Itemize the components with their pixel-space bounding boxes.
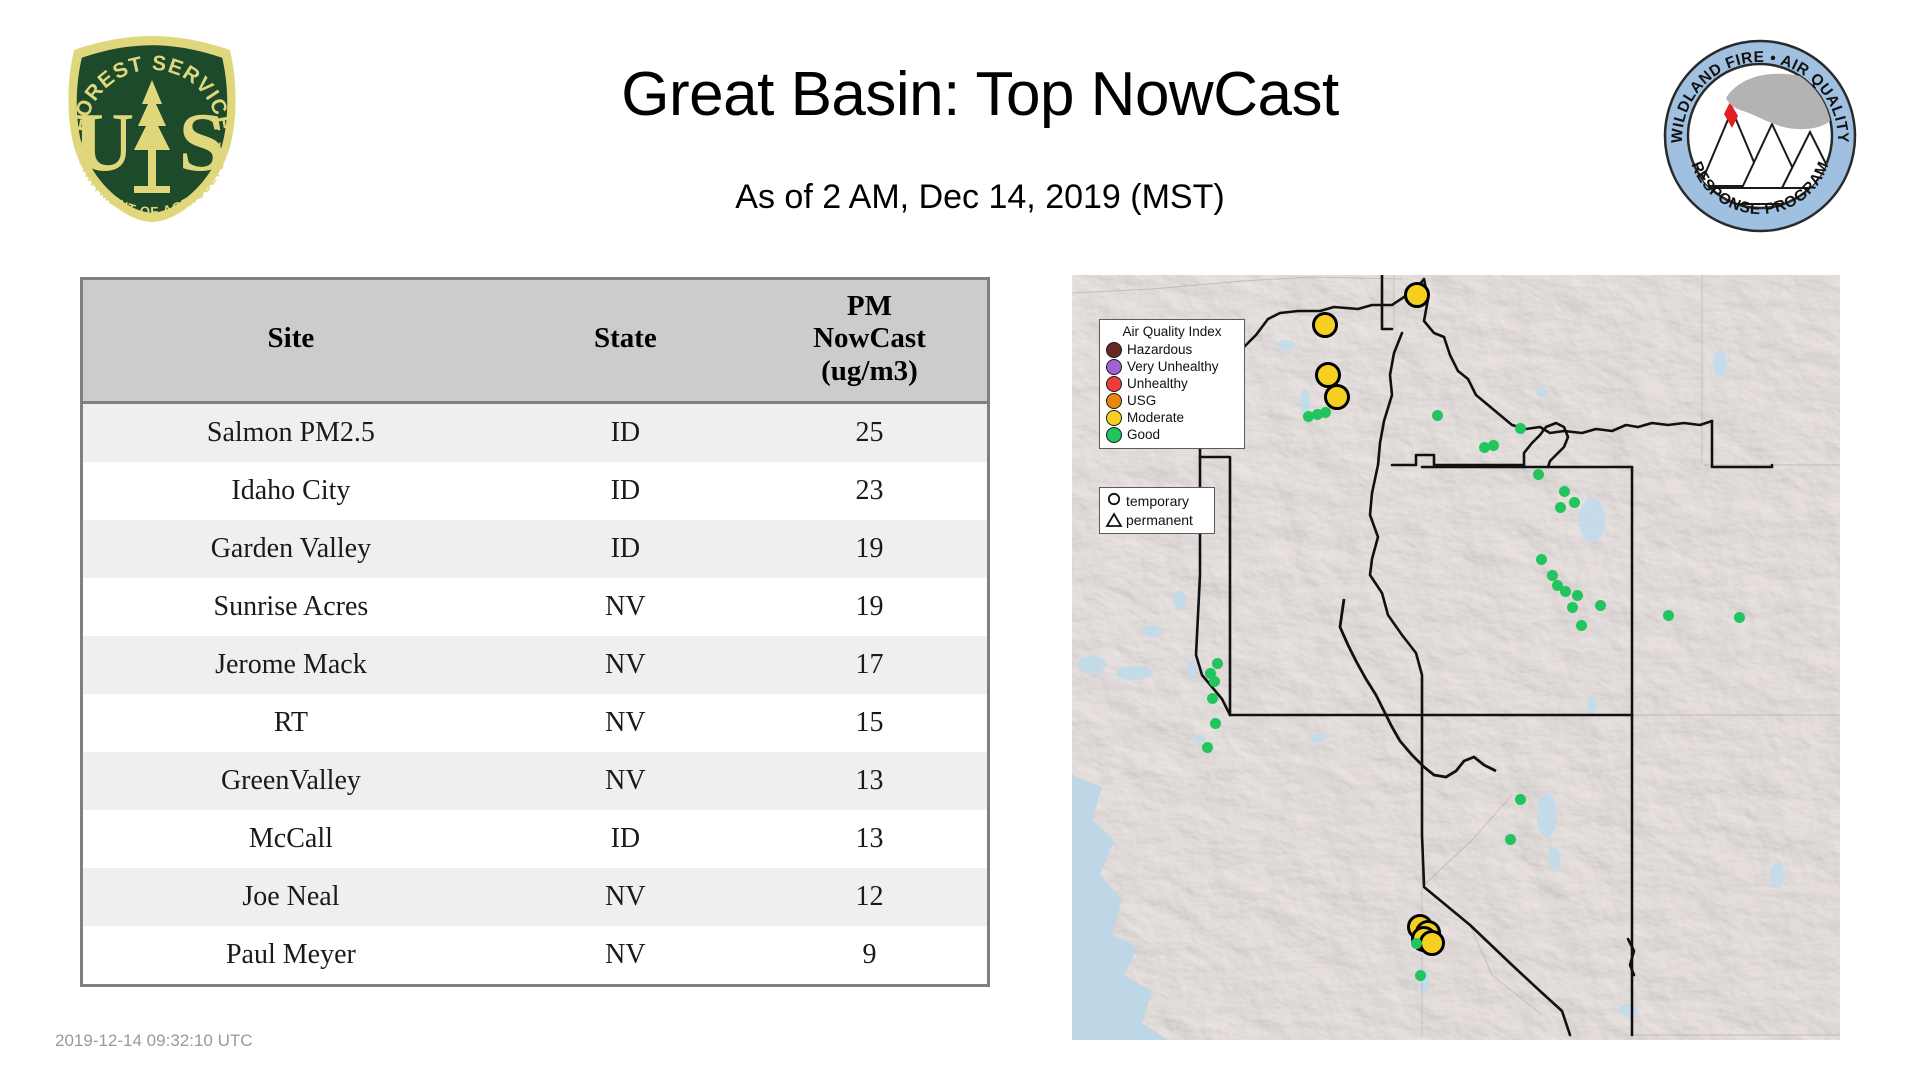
table-row: Paul MeyerNV9 bbox=[83, 926, 987, 984]
aqi-legend: Air Quality Index HazardousVery Unhealth… bbox=[1099, 319, 1245, 449]
forest-service-logo: FOREST SERVICE DEPARTMENT OF AGRICULTURE… bbox=[52, 28, 252, 228]
monitor-type-legend: temporary permanent bbox=[1099, 487, 1215, 534]
aqi-swatch-icon bbox=[1106, 359, 1122, 375]
cell-state: NV bbox=[499, 752, 752, 810]
table-row: Idaho CityID23 bbox=[83, 462, 987, 520]
wildland-fire-air-quality-logo: WILDLAND FIRE • AIR QUALITY RESPONSE PRO… bbox=[1660, 36, 1860, 236]
table-body: Salmon PM2.5ID25Idaho CityID23Garden Val… bbox=[83, 403, 987, 985]
table-row: Sunrise AcresNV19 bbox=[83, 578, 987, 636]
table-row: Salmon PM2.5ID25 bbox=[83, 403, 987, 463]
aqi-legend-row: Hazardous bbox=[1106, 341, 1238, 358]
aqi-legend-label: Moderate bbox=[1127, 410, 1184, 425]
aqi-legend-row: Moderate bbox=[1106, 409, 1238, 426]
page-title: Great Basin: Top NowCast bbox=[420, 62, 1540, 127]
column-header-pm-nowcast: PM NowCast (ug/m3) bbox=[752, 280, 987, 403]
monitor-marker-good[interactable] bbox=[1536, 554, 1547, 565]
cell-site: Paul Meyer bbox=[83, 926, 499, 984]
cell-state: ID bbox=[499, 810, 752, 868]
aqi-legend-label: Good bbox=[1127, 427, 1160, 442]
monitor-marker-good[interactable] bbox=[1559, 486, 1570, 497]
cell-state: NV bbox=[499, 636, 752, 694]
generation-timestamp: 2019-12-14 09:32:10 UTC bbox=[55, 1031, 253, 1051]
monitor-marker-good[interactable] bbox=[1415, 970, 1426, 981]
aqi-legend-label: Hazardous bbox=[1127, 342, 1192, 357]
monitor-marker-good[interactable] bbox=[1212, 658, 1223, 669]
monitor-marker-moderate[interactable] bbox=[1324, 384, 1350, 410]
monitor-marker-good[interactable] bbox=[1320, 407, 1331, 418]
table-header: Site State PM NowCast (ug/m3) bbox=[83, 280, 987, 403]
monitor-marker-moderate[interactable] bbox=[1312, 312, 1338, 338]
monitor-marker-good[interactable] bbox=[1515, 794, 1526, 805]
cell-state: NV bbox=[499, 694, 752, 752]
monitor-marker-moderate[interactable] bbox=[1404, 282, 1430, 308]
aqi-swatch-icon bbox=[1106, 427, 1122, 443]
legend-row-permanent: permanent bbox=[1105, 510, 1209, 529]
svg-text:S: S bbox=[179, 96, 226, 189]
table-row: Joe NealNV12 bbox=[83, 868, 987, 926]
monitor-marker-good[interactable] bbox=[1572, 590, 1583, 601]
monitor-marker-good[interactable] bbox=[1411, 938, 1422, 949]
cell-state: ID bbox=[499, 520, 752, 578]
monitor-marker-good[interactable] bbox=[1567, 602, 1578, 613]
monitor-marker-good[interactable] bbox=[1734, 612, 1745, 623]
aqi-legend-label: Very Unhealthy bbox=[1127, 359, 1219, 374]
triangle-icon bbox=[1105, 511, 1123, 529]
circle-icon bbox=[1105, 492, 1123, 510]
monitor-marker-good[interactable] bbox=[1515, 423, 1526, 434]
monitor-marker-good[interactable] bbox=[1432, 410, 1443, 421]
top-nowcast-table-container: Site State PM NowCast (ug/m3) Salmon PM2… bbox=[80, 277, 990, 987]
legend-label-temporary: temporary bbox=[1126, 493, 1189, 509]
cell-site: Sunrise Acres bbox=[83, 578, 499, 636]
table-header-row: Site State PM NowCast (ug/m3) bbox=[83, 280, 987, 403]
cell-site: Joe Neal bbox=[83, 868, 499, 926]
monitor-marker-good[interactable] bbox=[1576, 620, 1587, 631]
cell-site: GreenValley bbox=[83, 752, 499, 810]
cell-pm: 19 bbox=[752, 578, 987, 636]
cell-state: ID bbox=[499, 462, 752, 520]
svg-text:U: U bbox=[74, 96, 135, 189]
page-subtitle: As of 2 AM, Dec 14, 2019 (MST) bbox=[420, 178, 1540, 217]
monitor-marker-good[interactable] bbox=[1555, 502, 1566, 513]
monitor-marker-good[interactable] bbox=[1210, 718, 1221, 729]
cell-site: RT bbox=[83, 694, 499, 752]
cell-pm: 19 bbox=[752, 520, 987, 578]
table-row: GreenValleyNV13 bbox=[83, 752, 987, 810]
cell-pm: 13 bbox=[752, 752, 987, 810]
cell-pm: 15 bbox=[752, 694, 987, 752]
monitor-marker-good[interactable] bbox=[1209, 676, 1220, 687]
table-row: RTNV15 bbox=[83, 694, 987, 752]
monitor-marker-good[interactable] bbox=[1547, 570, 1558, 581]
cell-state: NV bbox=[499, 578, 752, 636]
monitor-marker-good[interactable] bbox=[1533, 469, 1544, 480]
cell-state: NV bbox=[499, 926, 752, 984]
aqi-legend-row: Good bbox=[1106, 426, 1238, 443]
top-nowcast-table: Site State PM NowCast (ug/m3) Salmon PM2… bbox=[83, 280, 987, 984]
monitor-marker-good[interactable] bbox=[1569, 497, 1580, 508]
column-header-site: Site bbox=[83, 280, 499, 403]
monitor-marker-good[interactable] bbox=[1663, 610, 1674, 621]
aqi-legend-row: Unhealthy bbox=[1106, 375, 1238, 392]
cell-site: Jerome Mack bbox=[83, 636, 499, 694]
monitor-marker-good[interactable] bbox=[1207, 693, 1218, 704]
monitor-marker-good[interactable] bbox=[1488, 440, 1499, 451]
aqi-legend-items: HazardousVery UnhealthyUnhealthyUSGModer… bbox=[1106, 341, 1238, 443]
monitor-marker-good[interactable] bbox=[1202, 742, 1213, 753]
aqi-swatch-icon bbox=[1106, 376, 1122, 392]
cell-pm: 13 bbox=[752, 810, 987, 868]
cell-site: McCall bbox=[83, 810, 499, 868]
aqi-swatch-icon bbox=[1106, 393, 1122, 409]
cell-site: Idaho City bbox=[83, 462, 499, 520]
cell-state: ID bbox=[499, 403, 752, 463]
cell-pm: 25 bbox=[752, 403, 987, 463]
table-row: McCallID13 bbox=[83, 810, 987, 868]
monitor-marker-good[interactable] bbox=[1560, 586, 1571, 597]
aqi-legend-label: Unhealthy bbox=[1127, 376, 1188, 391]
monitor-marker-moderate[interactable] bbox=[1419, 930, 1445, 956]
aqi-legend-label: USG bbox=[1127, 393, 1156, 408]
legend-label-permanent: permanent bbox=[1126, 512, 1193, 528]
column-header-state: State bbox=[499, 280, 752, 403]
aqi-swatch-icon bbox=[1106, 410, 1122, 426]
monitor-marker-good[interactable] bbox=[1595, 600, 1606, 611]
aqi-legend-title: Air Quality Index bbox=[1106, 324, 1238, 339]
aqi-swatch-icon bbox=[1106, 342, 1122, 358]
table-row: Jerome MackNV17 bbox=[83, 636, 987, 694]
table-row: Garden ValleyID19 bbox=[83, 520, 987, 578]
aqi-legend-row: USG bbox=[1106, 392, 1238, 409]
cell-site: Salmon PM2.5 bbox=[83, 403, 499, 463]
aqi-legend-row: Very Unhealthy bbox=[1106, 358, 1238, 375]
cell-state: NV bbox=[499, 868, 752, 926]
cell-pm: 9 bbox=[752, 926, 987, 984]
cell-pm: 17 bbox=[752, 636, 987, 694]
monitor-marker-good[interactable] bbox=[1505, 834, 1516, 845]
great-basin-aqi-map[interactable]: Air Quality Index HazardousVery Unhealth… bbox=[1072, 275, 1840, 1040]
cell-site: Garden Valley bbox=[83, 520, 499, 578]
legend-row-temporary: temporary bbox=[1105, 491, 1209, 510]
cell-pm: 12 bbox=[752, 868, 987, 926]
cell-pm: 23 bbox=[752, 462, 987, 520]
